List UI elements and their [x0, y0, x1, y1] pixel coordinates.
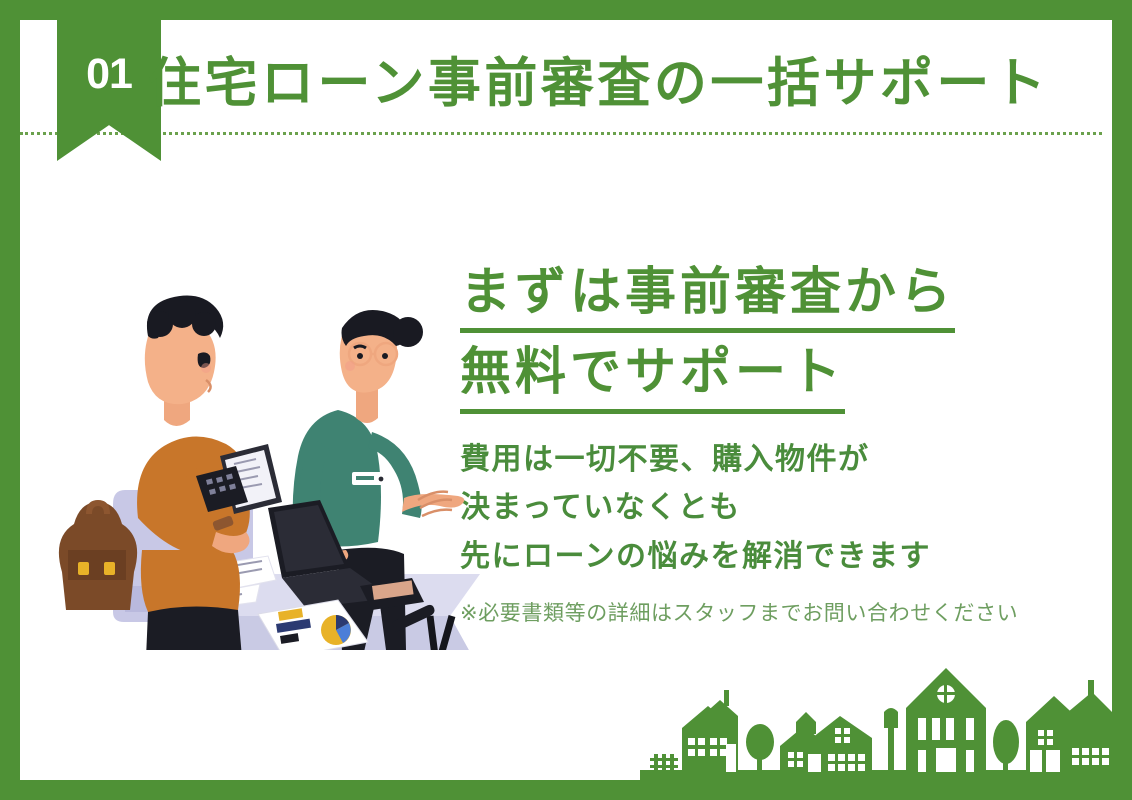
- headline-line-2: 無料でサポート: [460, 338, 1080, 413]
- client-blush: [201, 363, 211, 373]
- copy-block: まずは事前審査から 無料でサポート 費用は一切不要、購入物件が 決まっていなくと…: [460, 258, 1080, 627]
- headline-line-1-text: まずは事前審査から: [460, 258, 955, 333]
- slide-root: 01 住宅ローン事前審査の一括サポート まずは事前審査から 無料でサポート 費用…: [0, 0, 1132, 800]
- house-skyline-silhouette: [640, 650, 1112, 780]
- lamppost: [884, 708, 898, 772]
- client-legs: [146, 606, 242, 650]
- advisor-badge-dot: [379, 477, 384, 482]
- body-text: 費用は一切不要、購入物件が 決まっていなくとも 先にローンの悩みを解消できます: [460, 436, 1080, 582]
- client-sweater-lower: [141, 550, 240, 612]
- advisor-hair-bun: [393, 317, 423, 347]
- advisor-badge-line: [356, 476, 374, 480]
- body-line-3: 先にローンの悩みを解消できます: [460, 533, 1080, 582]
- body-line-1: 費用は一切不要、購入物件が: [460, 436, 1080, 485]
- section-number: 01: [86, 50, 132, 99]
- backpack-flap: [68, 550, 126, 580]
- advisor-blush: [345, 361, 355, 371]
- advisor-eye-right: [382, 353, 388, 359]
- advisor-eye-left: [357, 353, 363, 359]
- backpack-buckle-left: [78, 562, 89, 575]
- client-hair-curl-2: [168, 300, 196, 328]
- tree-1: [746, 724, 774, 772]
- header-divider: [20, 132, 1102, 135]
- slide-card: 01 住宅ローン事前審査の一括サポート まずは事前審査から 無料でサポート 費用…: [20, 20, 1112, 780]
- page-title: 住宅ローン事前審査の一括サポート: [148, 34, 1088, 124]
- loan-consultation-illustration: [20, 250, 480, 650]
- headline-line-1: まずは事前審査から: [460, 258, 1080, 333]
- footnote: ※必要書類等の詳細はスタッフまでお問い合わせください: [460, 597, 1080, 627]
- headline-line-2-text: 無料でサポート: [460, 338, 845, 413]
- section-number-ribbon: 01: [57, 20, 161, 161]
- body-line-2: 決まっていなくとも: [460, 484, 1080, 533]
- fence: [650, 754, 678, 772]
- tree-2: [993, 720, 1019, 772]
- backpack-buckle-right: [104, 562, 115, 575]
- client-hair-curl-3: [192, 312, 216, 336]
